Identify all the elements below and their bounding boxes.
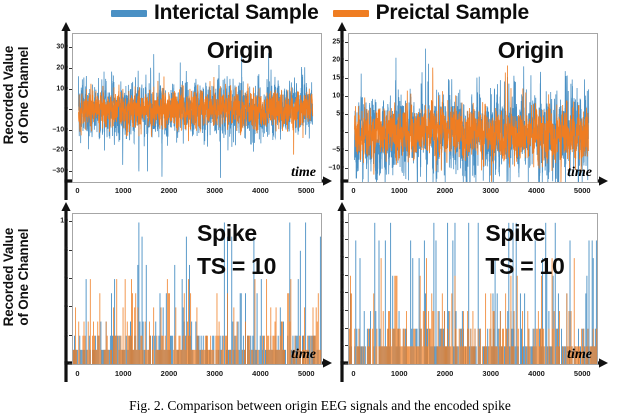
y-tick-label: 2 (314, 324, 344, 331)
y-tick-label: 4 (38, 303, 68, 310)
y-tick-mark (345, 222, 348, 223)
y-tick-mark (345, 363, 348, 364)
plot-canvas-bottom-right (349, 214, 597, 364)
y-tick-label: 2 (38, 331, 68, 338)
x-tick-label: 0 (351, 369, 355, 378)
legend-entry-preictal: Preictal Sample (333, 1, 529, 25)
y-tick-label: 200 (314, 57, 344, 64)
y-tick-mark (69, 306, 72, 307)
y-tick-mark (345, 78, 348, 79)
x-axis-inline-label-top-left: time (291, 165, 316, 181)
y-tick-mark (69, 150, 72, 151)
x-tick-label: 1000 (391, 186, 408, 195)
plot-area-bottom-right: SpikeTS = 10time (348, 213, 598, 365)
y-tick-label: 3 (314, 307, 344, 314)
x-axis-inline-label-bottom-left: time (291, 347, 316, 363)
y-tick-mark (69, 363, 72, 364)
y-tick-mark (345, 60, 348, 61)
y-tick-label: 100 (38, 85, 68, 92)
x-tick-label: 0 (351, 186, 355, 195)
panel-title-bottom-left: Spike (197, 220, 257, 247)
x-tick-label: 4000 (528, 186, 545, 195)
y-tick-label: 4 (314, 289, 344, 296)
y-axis-label-line1: Recorded Value (1, 197, 16, 357)
x-tick-label: 4000 (252, 186, 269, 195)
y-tick-mark (345, 96, 348, 97)
figure-caption: Fig. 2. Comparison between origin EEG si… (0, 398, 640, 414)
legend-entry-interictal: Interictal Sample (111, 1, 319, 25)
y-tick-mark (69, 89, 72, 90)
y-tick-label: 5 (314, 271, 344, 278)
plot-canvas-top-left (73, 34, 321, 182)
x-tick-label: 2000 (437, 186, 454, 195)
y-tick-mark (69, 47, 72, 48)
y-tick-label: −300 (38, 167, 68, 174)
y-axis-label-line2: of One Channel (16, 197, 31, 357)
x-axis-inline-label-top-right: time (567, 165, 592, 181)
x-tick-label: 5000 (298, 186, 315, 195)
y-tick-mark (69, 109, 72, 110)
y-tick-label: 7 (314, 236, 344, 243)
legend-label-interictal: Interictal Sample (154, 1, 319, 25)
y-tick-label: 6 (38, 275, 68, 282)
y-axis-label-bottom-row: Recorded Value of One Channel (1, 197, 31, 357)
y-axis-label-line1: Recorded Value (1, 15, 16, 175)
y-tick-mark (345, 239, 348, 240)
panel-title-bottom-right: Spike (485, 220, 545, 247)
y-tick-label: 0 (38, 360, 68, 367)
plot-area-top-left: Origintime (72, 33, 322, 183)
figure-legend: Interictal Sample Preictal Sample (0, 0, 640, 26)
x-tick-label: 3000 (482, 186, 499, 195)
y-tick-label: 50 (314, 111, 344, 118)
y-tick-label: −100 (314, 165, 344, 172)
x-axis-inline-label-bottom-right: time (567, 347, 592, 363)
panel-subtitle-bottom-left: TS = 10 (197, 253, 276, 280)
panel-title-top-left: Origin (207, 37, 273, 64)
y-tick-label: 0 (38, 106, 68, 113)
x-tick-label: 2000 (437, 369, 454, 378)
x-tick-label: 2000 (161, 186, 178, 195)
y-tick-mark (69, 171, 72, 172)
x-tick-label: 5000 (298, 369, 315, 378)
y-tick-mark (69, 68, 72, 69)
x-tick-label: 1000 (115, 369, 132, 378)
y-tick-mark (345, 292, 348, 293)
plot-area-bottom-left: SpikeTS = 10time (72, 213, 322, 365)
y-tick-label: 8 (38, 246, 68, 253)
x-tick-label: 0 (75, 186, 79, 195)
plot-area-top-right: Origintime (348, 33, 598, 183)
y-tick-mark (345, 114, 348, 115)
panel-title-top-right: Origin (498, 37, 564, 64)
y-tick-label: 150 (314, 75, 344, 82)
y-tick-mark (345, 310, 348, 311)
y-tick-mark (69, 335, 72, 336)
y-tick-mark (69, 278, 72, 279)
y-tick-label: 8 (314, 218, 344, 225)
y-tick-label: −200 (38, 147, 68, 154)
y-tick-mark (345, 275, 348, 276)
x-tick-label: 1000 (115, 186, 132, 195)
x-tick-label: 3000 (482, 369, 499, 378)
y-tick-label: 100 (314, 93, 344, 100)
y-tick-mark (345, 345, 348, 346)
line-swatch-orange-icon (333, 10, 369, 17)
y-tick-label: 1 (314, 342, 344, 349)
y-tick-label: 10 (38, 218, 68, 225)
x-tick-label: 3000 (206, 186, 223, 195)
y-tick-mark (345, 328, 348, 329)
y-axis-label-line2: of One Channel (16, 15, 31, 175)
y-tick-mark (345, 257, 348, 258)
x-tick-label: 3000 (206, 369, 223, 378)
x-tick-label: 4000 (252, 369, 269, 378)
y-tick-mark (69, 250, 72, 251)
x-tick-label: 5000 (574, 186, 591, 195)
y-tick-label: 250 (314, 39, 344, 46)
x-tick-label: 2000 (161, 369, 178, 378)
y-tick-mark (345, 132, 348, 133)
y-tick-label: 0 (314, 360, 344, 367)
x-tick-label: 4000 (528, 369, 545, 378)
line-swatch-blue-icon (111, 10, 147, 17)
panel-subtitle-bottom-right: TS = 10 (485, 253, 564, 280)
y-tick-label: 200 (38, 64, 68, 71)
y-tick-label: 6 (314, 254, 344, 261)
x-tick-label: 0 (75, 369, 79, 378)
y-tick-mark (345, 42, 348, 43)
y-tick-mark (69, 130, 72, 131)
legend-label-preictal: Preictal Sample (376, 1, 529, 25)
y-tick-mark (345, 168, 348, 169)
y-tick-mark (345, 150, 348, 151)
y-tick-label: 0 (314, 129, 344, 136)
x-tick-label: 5000 (574, 369, 591, 378)
y-tick-label: 300 (38, 44, 68, 51)
y-tick-mark (69, 221, 72, 222)
y-axis-label-top-row: Recorded Value of One Channel (1, 15, 31, 175)
y-tick-label: −50 (314, 147, 344, 154)
y-tick-label: −100 (38, 126, 68, 133)
x-tick-label: 1000 (391, 369, 408, 378)
